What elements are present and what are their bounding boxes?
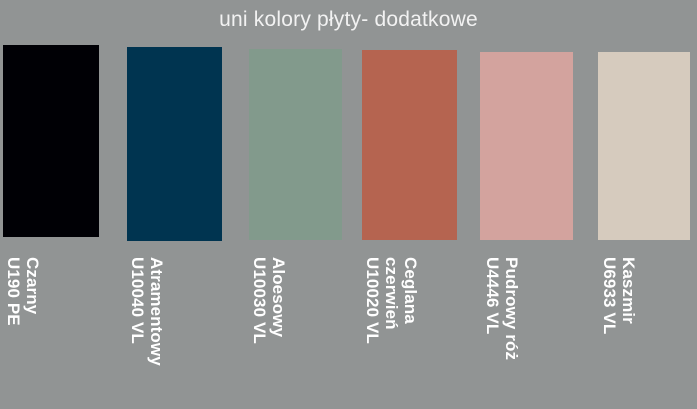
color-swatch[interactable] — [598, 52, 690, 240]
color-swatch[interactable] — [480, 52, 573, 240]
color-swatch[interactable] — [3, 45, 99, 237]
swatch-code: U6933 VL — [600, 257, 619, 349]
swatch-column: Kaszmir U6933 VL — [598, 0, 690, 409]
color-swatch[interactable] — [127, 47, 222, 241]
swatch-label: Kaszmir U6933 VL — [478, 257, 638, 349]
color-palette-board: uni kolory płyty- dodatkowe Czarny U190 … — [0, 0, 697, 409]
color-swatch[interactable] — [249, 49, 342, 240]
color-swatch[interactable] — [362, 50, 457, 240]
swatch-name-line: Kaszmir — [619, 257, 638, 349]
page-title: uni kolory płyty- dodatkowe — [0, 8, 697, 32]
